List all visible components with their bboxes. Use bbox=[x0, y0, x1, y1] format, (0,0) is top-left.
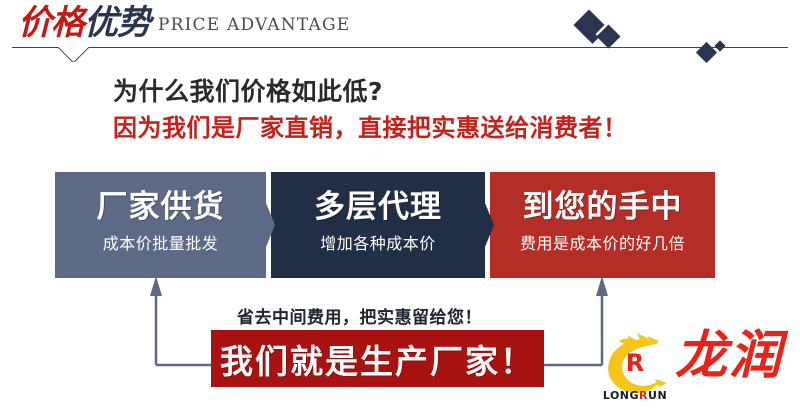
headline-answer: 因为我们是厂家直销，直接把实惠送给消费者！ bbox=[113, 108, 628, 143]
flow-step-subtext: 成本价批量批发 bbox=[55, 236, 266, 252]
svg-text:R: R bbox=[626, 349, 644, 377]
flow-step-to-your-hands: 到您的手中 费用是成本价的好几倍 bbox=[490, 172, 715, 278]
header-divider bbox=[12, 47, 788, 48]
page-title-cn-red: 价格 bbox=[18, 3, 84, 43]
flow-step-subtext: 费用是成本价的好几倍 bbox=[490, 236, 715, 252]
flow-step-headline: 多层代理 bbox=[271, 192, 485, 223]
logo-wordmark-cn: 龙润 bbox=[675, 329, 783, 384]
flow-step-subtext: 增加各种成本价 bbox=[271, 236, 485, 252]
chevron-right-icon-2 bbox=[472, 172, 494, 278]
headline-question: 为什么我们价格如此低? bbox=[113, 72, 383, 108]
price-advantage-banner: 价格优势PRICE ADVANTAGE 为什么我们价格如此低? 因为我们是厂家直… bbox=[0, 0, 800, 419]
flow-step-multi-level-agency: 多层代理 增加各种成本价 bbox=[271, 172, 485, 278]
chevron-right-icon-1 bbox=[253, 172, 275, 278]
flow-step-headline: 到您的手中 bbox=[490, 192, 715, 223]
cta-banner-text: 我们就是生产厂家！ bbox=[220, 335, 535, 383]
cta-banner: 我们就是生产厂家！ bbox=[211, 330, 544, 387]
savings-note: 省去中间费用，把实惠留给您！ bbox=[237, 303, 482, 328]
company-logo: R LONGRUN 龙润 bbox=[597, 327, 792, 403]
diamond-small-right bbox=[714, 40, 725, 51]
dragon-logo-icon: R LONGRUN bbox=[597, 327, 673, 403]
header-divider-notch-icon bbox=[58, 47, 100, 62]
page-title-en: PRICE ADVANTAGE bbox=[158, 15, 350, 35]
page-title-cn-dark: 优势 bbox=[84, 3, 150, 43]
page-title: 价格优势PRICE ADVANTAGE bbox=[18, 6, 350, 40]
flow-step-manufacturer-supply: 厂家供货 成本价批量批发 bbox=[55, 172, 266, 278]
svg-text:LONGRUN: LONGRUN bbox=[603, 389, 667, 402]
flow-step-headline: 厂家供货 bbox=[55, 192, 266, 223]
